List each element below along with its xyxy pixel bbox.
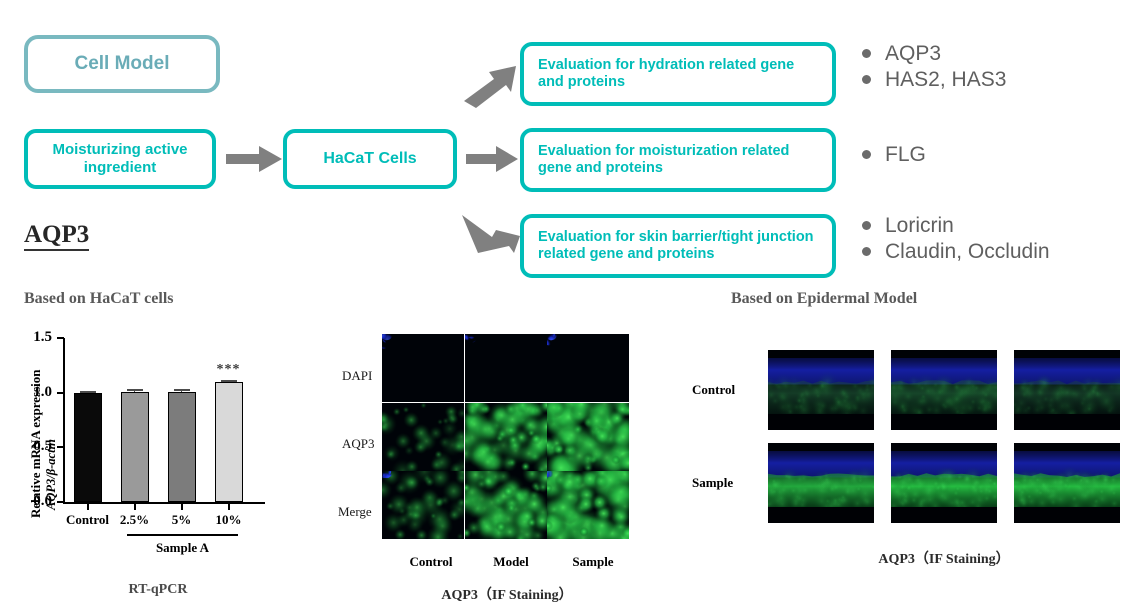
if-tile-merge-model (465, 471, 547, 539)
page-title: AQP3 (24, 222, 89, 251)
flow-box-eval-hydration[interactable]: Evaluation for hydration related gene an… (520, 42, 836, 106)
flow-box-active-ingredient[interactable]: Moisturizing active ingredient (24, 129, 216, 189)
flow-box-active-ingredient-label: Moisturizing active ingredient (28, 141, 212, 176)
arrow-hacat-to-moisturization (466, 146, 518, 172)
chart-bar (168, 392, 196, 502)
if-tile-merge-sample (547, 471, 629, 539)
bullet-icon (862, 247, 871, 256)
chart-error-cap (127, 389, 143, 391)
flow-box-hacat-cells[interactable]: HaCaT Cells (283, 129, 457, 189)
if-row-label-dapi: DAPI (342, 368, 372, 384)
if-tile-aqp3-model (465, 403, 547, 471)
chart-error-cap (80, 391, 96, 393)
chart-x-tick (181, 504, 183, 510)
chart-y-tick (57, 392, 64, 394)
bullet-list-hydration: AQP3 HAS2, HAS3 (862, 42, 1006, 93)
if-row-label-aqp3: AQP3 (342, 436, 375, 452)
arrow-ingredient-to-hacat (226, 146, 282, 172)
if-tile-aqp3-control (382, 403, 464, 471)
chart-group-bracket-label: Sample A (127, 540, 238, 556)
list-item: FLG (862, 143, 926, 167)
chart-bar (74, 393, 102, 502)
chart-x-tick (228, 504, 230, 510)
chart-y-tick-label: 0.5 (18, 438, 52, 455)
epidermal-panel: Control Sample AQP3（IF Staining） (680, 312, 1146, 604)
epi-panel-caption: AQP3（IF Staining） (768, 548, 1120, 568)
if-tile-aqp3-sample (547, 403, 629, 471)
arrow-hacat-to-hydration (464, 60, 522, 112)
if-tile-dapi-model (465, 334, 547, 402)
epi-tile-control-2 (891, 350, 997, 430)
chart-x-tick (134, 504, 136, 510)
chart-bar (121, 392, 149, 502)
bullet-label: HAS2, HAS3 (885, 68, 1006, 92)
if-col-label-sample: Sample (553, 554, 633, 570)
heading-based-on-epidermal: Based on Epidermal Model (731, 290, 917, 308)
chart-x-axis (63, 502, 265, 504)
list-item: AQP3 (862, 42, 1006, 66)
bar-chart: Relative mRNA expression AQP3/β-actin Sa… (14, 330, 264, 530)
if-panel-caption: AQP3（IF Staining） (382, 584, 632, 604)
flow-box-eval-moisturization-label: Evaluation for moisturization related ge… (524, 143, 832, 177)
flow-box-hacat-cells-label: HaCaT Cells (287, 150, 453, 169)
chart-caption: RT-qPCR (64, 582, 252, 598)
bullet-list-barrier: Loricrin Claudin, Occludin (862, 214, 1050, 265)
if-row-label-merge: Merge (338, 504, 372, 520)
if-tile-dapi-control (382, 334, 464, 402)
chart-significance-marker: *** (215, 362, 243, 378)
chart-error-cap (174, 389, 190, 391)
flow-box-cell-model-label: Cell Model (28, 53, 216, 75)
chart-y-tick (57, 501, 64, 503)
bullet-icon (862, 75, 871, 84)
if-tile-dapi-sample (547, 334, 629, 402)
if-staining-panel: DAPI AQP3 Merge Control Model Sample AQP… (330, 312, 650, 604)
epi-tile-sample-2 (891, 443, 997, 523)
heading-based-on-hacat: Based on HaCaT cells (24, 290, 174, 308)
chart-x-tick-label: 10% (197, 512, 261, 528)
flow-box-eval-barrier-label: Evaluation for skin barrier/tight juncti… (524, 229, 832, 263)
if-col-label-model: Model (471, 554, 551, 570)
bullet-label: FLG (885, 143, 926, 167)
chart-bar (215, 382, 243, 502)
bullet-label: AQP3 (885, 42, 941, 66)
bullet-icon (862, 150, 871, 159)
chart-y-tick-label: 0.0 (18, 493, 52, 510)
chart-y-tick (57, 337, 64, 339)
chart-y-axis (63, 338, 65, 502)
bullet-icon (862, 221, 871, 230)
list-item: HAS2, HAS3 (862, 68, 1006, 92)
epi-tile-sample-1 (768, 443, 874, 523)
bullet-icon (862, 49, 871, 58)
chart-error-cap (221, 380, 237, 382)
chart-y-tick-label: 1.0 (18, 384, 52, 401)
flow-box-eval-barrier[interactable]: Evaluation for skin barrier/tight juncti… (520, 214, 836, 278)
flow-box-cell-model[interactable]: Cell Model (24, 35, 220, 93)
chart-y-tick (57, 446, 64, 448)
epi-tile-control-1 (768, 350, 874, 430)
bullet-label: Loricrin (885, 214, 954, 238)
epi-row-label-sample: Sample (692, 475, 733, 491)
arrow-hacat-to-barrier (462, 205, 522, 257)
list-item: Loricrin (862, 214, 1050, 238)
epi-row-label-control: Control (692, 382, 735, 398)
if-col-label-control: Control (391, 554, 471, 570)
epi-tile-control-3 (1014, 350, 1120, 430)
flow-box-eval-moisturization[interactable]: Evaluation for moisturization related ge… (520, 128, 836, 192)
chart-group-bracket (127, 534, 238, 536)
bullet-label: Claudin, Occludin (885, 240, 1050, 264)
chart-x-tick (87, 504, 89, 510)
chart-y-tick-label: 1.5 (18, 329, 52, 346)
list-item: Claudin, Occludin (862, 240, 1050, 264)
epi-tile-sample-3 (1014, 443, 1120, 523)
flow-box-eval-hydration-label: Evaluation for hydration related gene an… (524, 57, 832, 91)
if-tile-merge-control (382, 471, 464, 539)
bullet-list-moisturization: FLG (862, 143, 926, 169)
